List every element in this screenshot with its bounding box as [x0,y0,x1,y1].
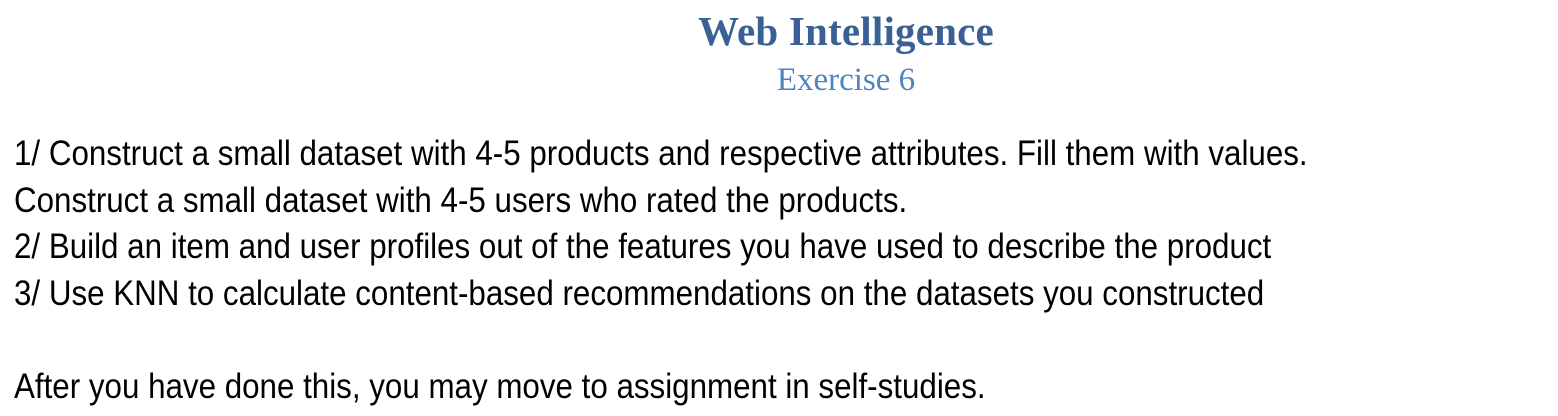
body-line-3: 2/ Build an item and user profiles out o… [14,224,1396,271]
slide-canvas: Web Intelligence Exercise 6 1/ Construct… [0,0,1558,416]
body-line-2: Construct a small dataset with 4-5 users… [14,178,1396,225]
body-line-1: 1/ Construct a small dataset with 4-5 pr… [14,131,1396,178]
body-line-spacer [14,317,1396,364]
page-title: Web Intelligence [134,6,1558,56]
body-line-4: 3/ Use KNN to calculate content-based re… [14,271,1396,318]
heading-block: Web Intelligence Exercise 6 [134,6,1558,102]
body-text-block: 1/ Construct a small dataset with 4-5 pr… [14,131,1558,410]
body-line-5: After you have done this, you may move t… [14,364,1396,411]
page-subtitle: Exercise 6 [134,56,1558,102]
